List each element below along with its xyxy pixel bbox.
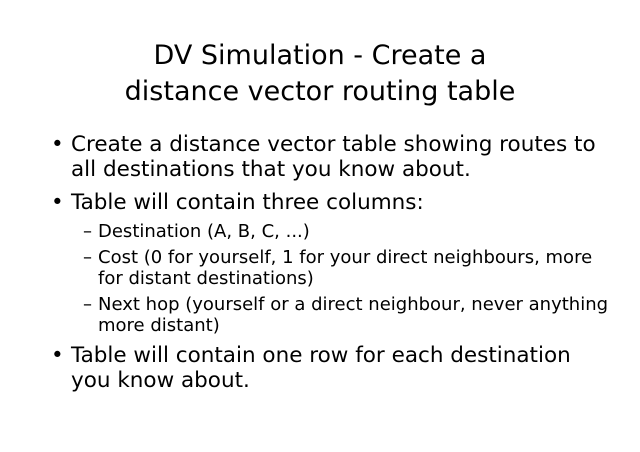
dash-marker-icon: –	[83, 247, 92, 268]
sub-bullet-item-next-hop: – Next hop (yourself or a direct neighbo…	[50, 294, 610, 336]
bullet-marker-icon: •	[51, 190, 64, 215]
bullet-item-one-row: • Table will contain one row for each de…	[50, 343, 610, 393]
sub-bullet-item-cost: – Cost (0 for yourself, 1 for your direc…	[50, 247, 610, 289]
sub-bullet-group: – Destination (A, B, C, ...) – Cost (0 f…	[50, 221, 610, 336]
slide-title-line-2: distance vector routing table	[32, 74, 608, 110]
sub-bullet-text: Destination (A, B, C, ...)	[98, 221, 610, 242]
bullet-marker-icon: •	[51, 132, 64, 157]
slide-body: • Create a distance vector table showing…	[50, 132, 610, 399]
bullet-text: Table will contain one row for each dest…	[71, 343, 610, 393]
bullet-text: Table will contain three columns:	[71, 190, 610, 215]
slide-title-line-1: DV Simulation - Create a	[32, 38, 608, 74]
bullet-marker-icon: •	[51, 343, 64, 368]
bullet-item-create-table: • Create a distance vector table showing…	[50, 132, 610, 182]
sub-bullet-item-destination: – Destination (A, B, C, ...)	[50, 221, 610, 242]
slide-title: DV Simulation - Create a distance vector…	[32, 38, 608, 110]
slide-canvas: DV Simulation - Create a distance vector…	[0, 0, 640, 452]
dash-marker-icon: –	[83, 221, 92, 242]
sub-bullet-text: Next hop (yourself or a direct neighbour…	[98, 294, 610, 336]
bullet-item-three-columns: • Table will contain three columns:	[50, 190, 610, 215]
sub-bullet-text: Cost (0 for yourself, 1 for your direct …	[98, 247, 610, 289]
bullet-text: Create a distance vector table showing r…	[71, 132, 610, 182]
dash-marker-icon: –	[83, 294, 92, 315]
